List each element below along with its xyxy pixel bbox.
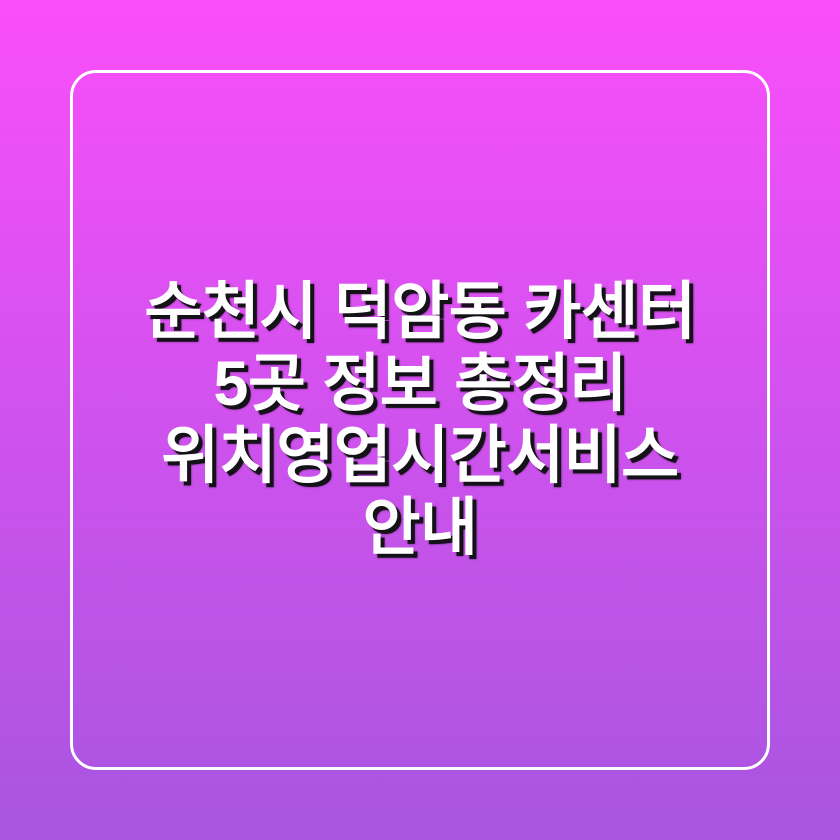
headline-line-1: 순천시 덕암동 카센터 [86, 276, 754, 348]
headline-line-3: 위치영업시간서비스 [86, 420, 754, 492]
headline-block: 순천시 덕암동 카센터 5곳 정보 총정리 위치영업시간서비스 안내 [0, 0, 840, 840]
poster-canvas: 순천시 덕암동 카센터 5곳 정보 총정리 위치영업시간서비스 안내 [0, 0, 840, 840]
headline-line-4: 안내 [86, 492, 754, 564]
headline-line-2: 5곳 정보 총정리 [86, 348, 754, 420]
